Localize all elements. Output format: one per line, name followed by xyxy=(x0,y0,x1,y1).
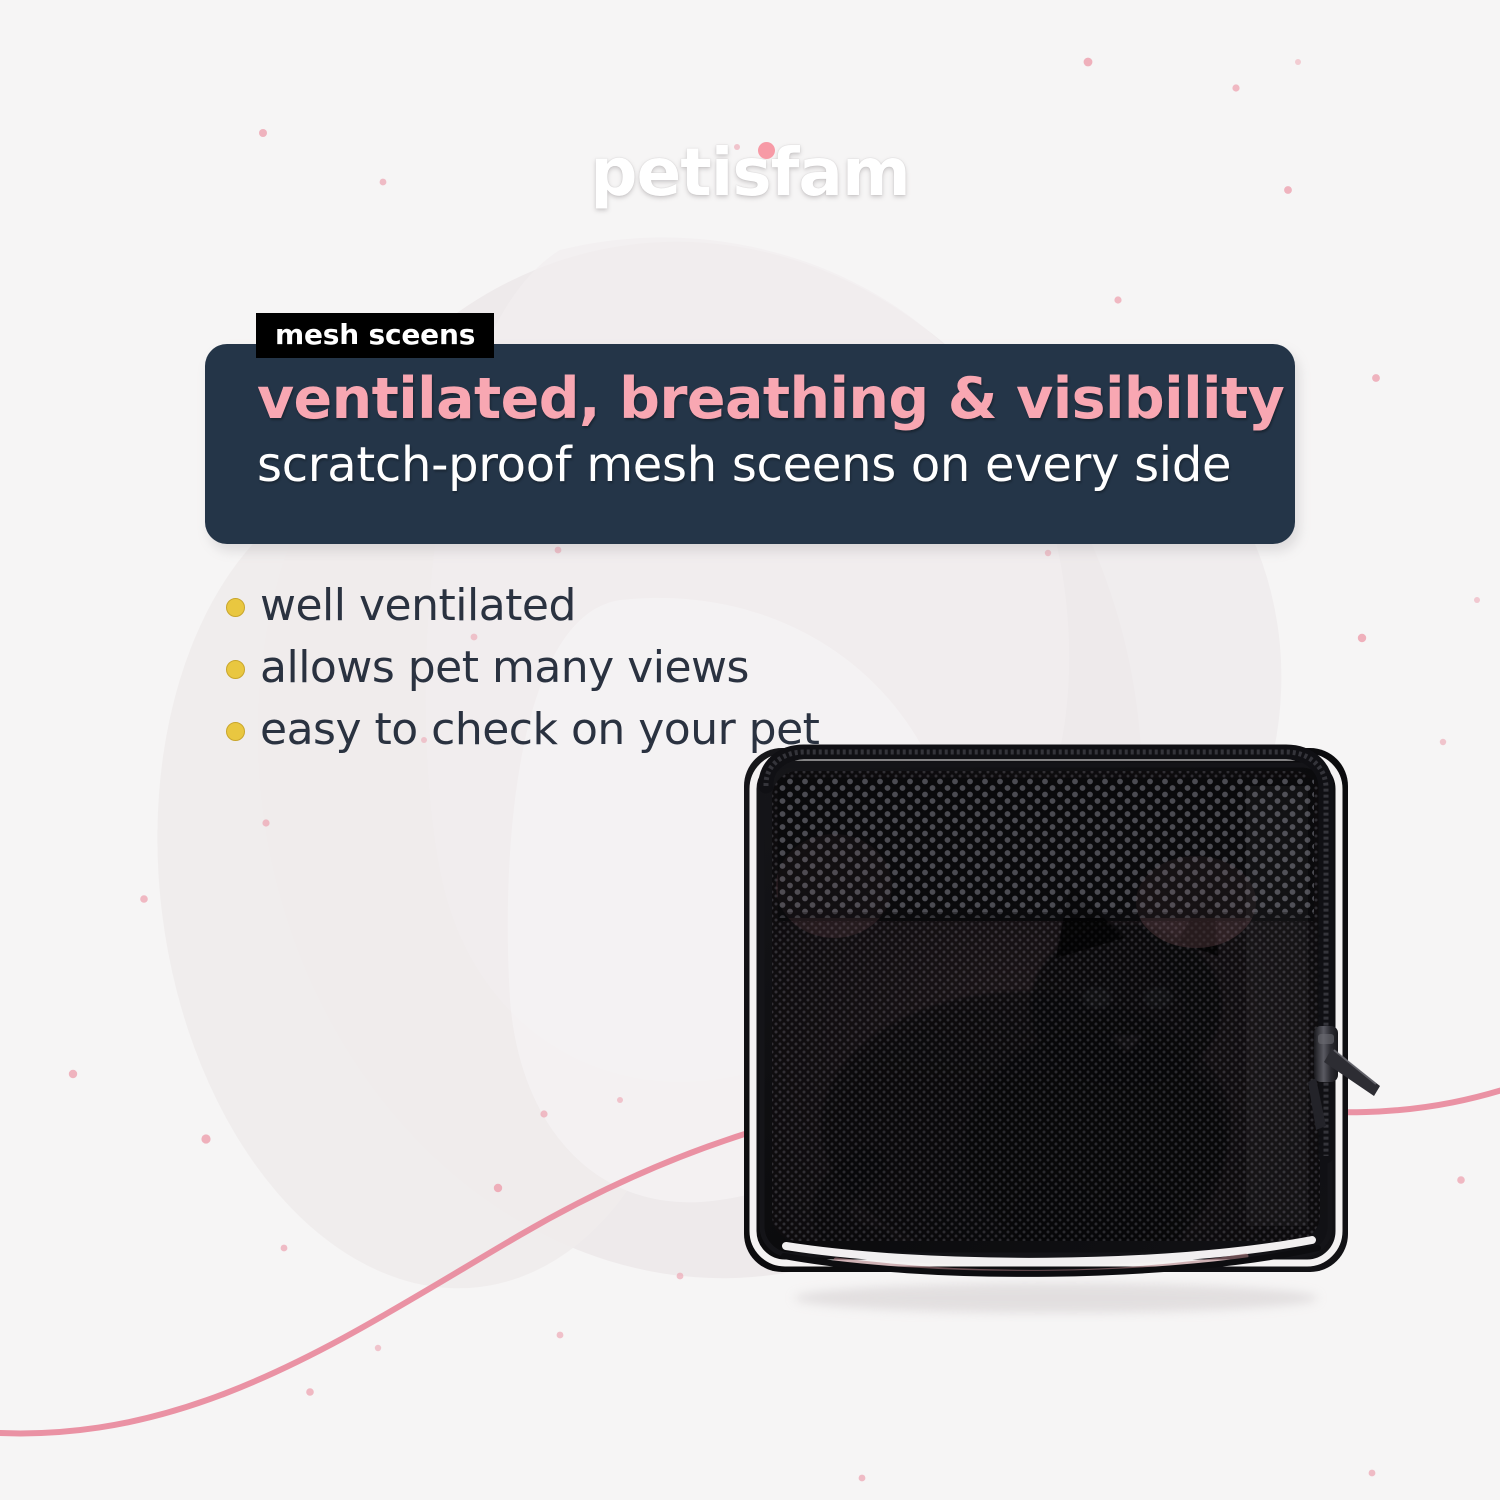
headline-panel: ventilated, breathing & visibility scrat… xyxy=(205,344,1295,544)
list-item-label: allows pet many views xyxy=(260,646,749,690)
list-item: well ventilated xyxy=(226,575,819,637)
zipper-slider-highlight xyxy=(1318,1034,1334,1044)
list-item-label: well ventilated xyxy=(260,584,576,628)
logo-dot-icon xyxy=(758,142,775,159)
list-item-label: easy to check on your pet xyxy=(260,708,819,752)
infographic-canvas: petisfam ventilated, breathing & visibil… xyxy=(0,0,1500,1500)
list-item: easy to check on your pet xyxy=(226,699,819,761)
product-image xyxy=(726,726,1386,1326)
headline-secondary: scratch-proof mesh sceens on every side xyxy=(257,439,1255,492)
brand-logo-text: petisfam xyxy=(590,140,910,206)
list-item: allows pet many views xyxy=(226,637,819,699)
feature-bullet-list: well ventilated allows pet many views ea… xyxy=(226,575,819,761)
product-carrier-svg xyxy=(726,726,1386,1326)
bullet-dot-icon xyxy=(226,598,245,617)
mesh-top-band-overlay xyxy=(778,778,1314,918)
mesh-window xyxy=(772,771,1320,1270)
bullet-dot-icon xyxy=(226,660,245,679)
headline-primary: ventilated, breathing & visibility xyxy=(257,369,1255,429)
product-shadow xyxy=(794,1283,1318,1313)
feature-badge: mesh sceens xyxy=(256,313,494,358)
brand-logo: petisfam xyxy=(0,140,1500,206)
interior-highlight xyxy=(1246,786,1308,1226)
bullet-dot-icon xyxy=(226,722,245,741)
